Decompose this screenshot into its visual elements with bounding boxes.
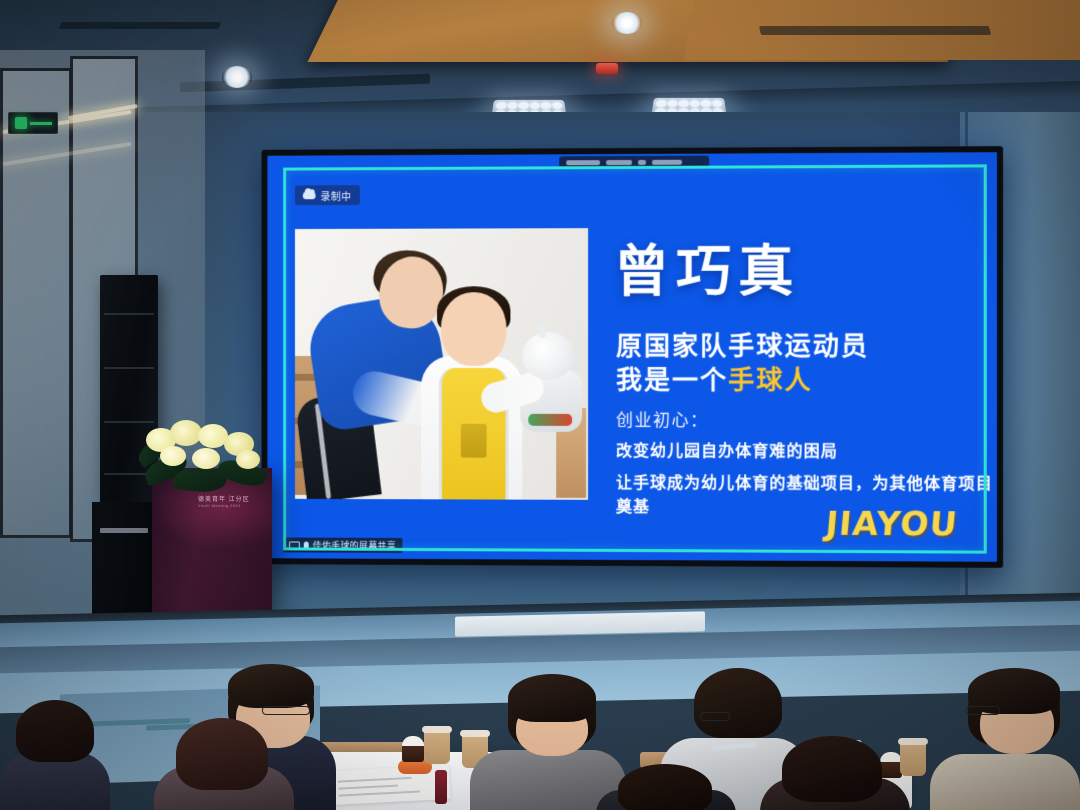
glass-panel bbox=[0, 68, 72, 538]
dome-light bbox=[612, 12, 642, 34]
muffin bbox=[880, 752, 902, 778]
person-hair bbox=[694, 668, 782, 738]
document-papers bbox=[329, 765, 451, 805]
person-body bbox=[930, 754, 1080, 810]
bottle bbox=[435, 770, 447, 804]
speaker-brand-tag bbox=[100, 528, 148, 533]
podium-text-secondary: Youth Meeting 2024 bbox=[198, 503, 241, 508]
person-hair bbox=[618, 764, 712, 810]
exit-sign-icon bbox=[8, 112, 58, 134]
person-hair bbox=[228, 664, 314, 708]
ceiling-slot-vent bbox=[180, 74, 430, 93]
eyeglasses bbox=[966, 706, 1000, 715]
coffee-cup bbox=[424, 730, 450, 764]
red-indicator-light bbox=[596, 63, 618, 74]
shared-screen-content: 录制中 bbox=[267, 152, 997, 562]
screen-share-border bbox=[283, 164, 987, 553]
led-wall-display: 录制中 bbox=[262, 146, 1004, 568]
podium-text-primary: 德美育年 江分区 bbox=[198, 494, 250, 503]
person-hair bbox=[176, 718, 268, 790]
flower-arrangement bbox=[140, 418, 272, 494]
person-hair bbox=[16, 700, 94, 762]
person-hair bbox=[508, 674, 596, 722]
eyeglasses bbox=[262, 706, 310, 715]
eyeglasses bbox=[700, 712, 730, 721]
dome-light bbox=[222, 66, 252, 88]
coffee-cup bbox=[900, 742, 926, 776]
muffin bbox=[402, 736, 424, 762]
ceiling-slot-vent bbox=[59, 22, 222, 29]
ceiling-slot-vent bbox=[759, 26, 991, 35]
conference-room-scene: 录制中 bbox=[0, 0, 1080, 810]
person-hair bbox=[782, 736, 882, 802]
